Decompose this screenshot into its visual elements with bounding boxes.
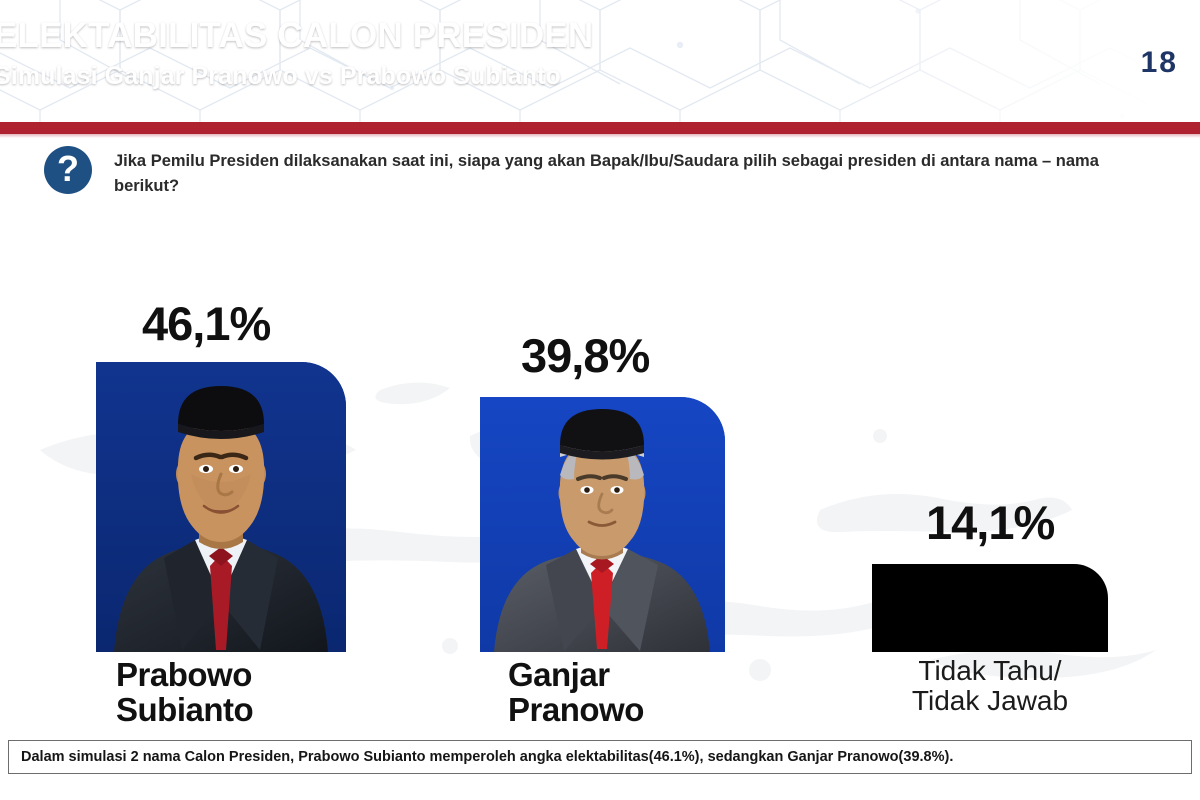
bar-chart: 46,1% (0, 240, 1200, 740)
header-fade-overlay (770, 0, 1200, 122)
slide-header: ELEKTABILITAS CALON PRESIDEN Simulasi Ga… (0, 0, 1200, 122)
caption-part-2: , sedangkan Ganjar Pranowo (700, 749, 899, 765)
caption-bold-ganjar: (39.8%) (899, 749, 950, 765)
question-mark-icon: ? (44, 146, 92, 194)
bar-column-prabowo: 46,1% (96, 240, 466, 740)
caption-bold-prabowo: (46.1%) (649, 749, 700, 765)
bar-value-label-prabowo: 46,1% (142, 296, 270, 351)
bar-name-label-ganjar: Ganjar Pranowo (508, 658, 644, 728)
bar-value-label-ganjar: 39,8% (521, 328, 649, 383)
question-text: Jika Pemilu Presiden dilaksanakan saat i… (114, 149, 1154, 199)
page-number: 18 (1141, 46, 1178, 80)
bar-column-tidak-tahu: 14,1% Tidak Tahu/ Tidak Jawab (872, 240, 1172, 740)
page-title: ELEKTABILITAS CALON PRESIDEN (0, 16, 593, 56)
caption-part-1: Dalam simulasi 2 nama Calon Presiden, Pr… (21, 749, 649, 765)
slide-root: ELEKTABILITAS CALON PRESIDEN Simulasi Ga… (0, 0, 1200, 800)
page-subtitle: Simulasi Ganjar Pranowo vs Prabowo Subia… (0, 62, 561, 91)
ganjar-portrait (480, 397, 725, 652)
bar-name-label-tidak-tahu: Tidak Tahu/ Tidak Jawab (872, 656, 1108, 715)
bar-column-ganjar: 39,8% (480, 240, 850, 740)
bar-name-label-prabowo: Prabowo Subianto (116, 658, 253, 728)
bar-tidak-tahu[interactable] (872, 564, 1108, 652)
red-divider-shadow (0, 134, 1200, 138)
bar-value-label-tidak-tahu: 14,1% (926, 495, 1054, 550)
caption-box: Dalam simulasi 2 nama Calon Presiden, Pr… (8, 740, 1192, 774)
bar-ganjar[interactable] (480, 397, 725, 652)
prabowo-portrait (96, 362, 346, 652)
caption-part-3: . (949, 749, 953, 765)
red-divider-bar (0, 122, 1200, 134)
question-block: ? Jika Pemilu Presiden dilaksanakan saat… (44, 146, 1154, 199)
bar-prabowo[interactable] (96, 362, 346, 652)
